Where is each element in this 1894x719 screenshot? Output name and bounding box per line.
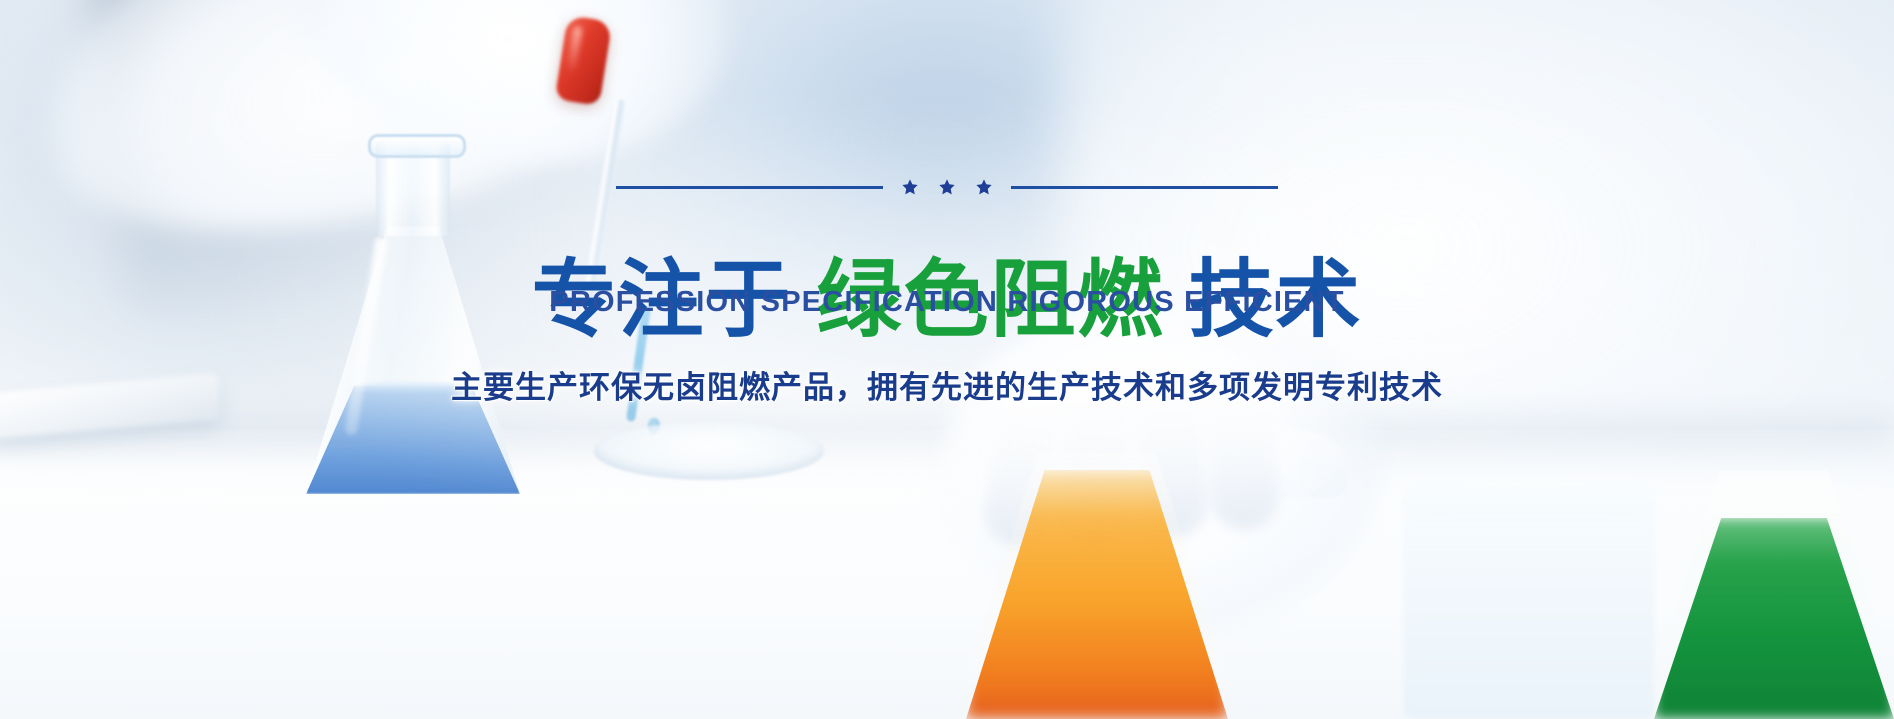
headline-subtitle: PROFESSION SPECIFICATION RIGOROUS EFFICI… — [549, 286, 1344, 319]
banner-content: 专注于绿色阻燃技术 PROFESSION SPECIFICATION RIGOR… — [0, 0, 1894, 719]
banner-tagline: 主要生产环保无卤阻燃产品，拥有先进的生产技术和多项发明专利技术 — [451, 362, 1443, 407]
star-icon — [901, 178, 919, 196]
star-icon — [975, 178, 993, 196]
divider-rule-right — [1011, 186, 1278, 189]
star-icon — [938, 178, 956, 196]
hero-banner: 专注于绿色阻燃技术 PROFESSION SPECIFICATION RIGOR… — [0, 0, 1894, 719]
divider-stars — [901, 178, 993, 196]
divider-rule-left — [616, 186, 883, 189]
headline-divider — [616, 178, 1278, 196]
